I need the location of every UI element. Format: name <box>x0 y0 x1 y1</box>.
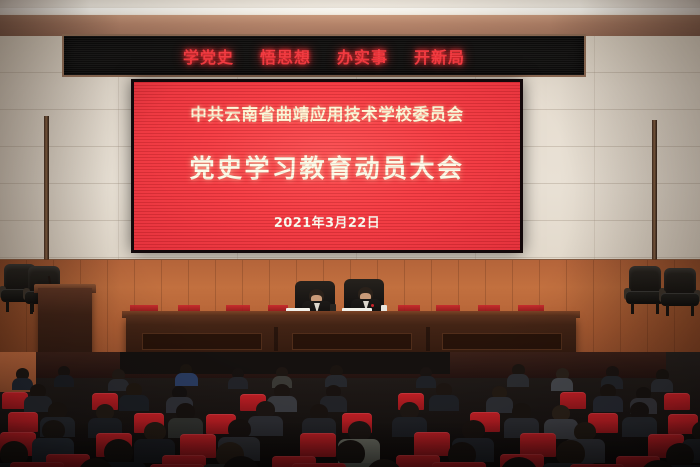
main-led-screen: 中共云南省曲靖应用技术学校委员会 党史学习教育动员大会 2021年3月22日 <box>131 79 523 253</box>
chair-leg-left <box>631 303 634 314</box>
ceiling-shadow-right <box>580 0 700 16</box>
stage-chair-right-2 <box>660 268 700 316</box>
chair-leg-left <box>30 303 33 314</box>
chair-back <box>664 268 696 296</box>
wall-trim-column-left <box>44 116 49 266</box>
chair-back <box>629 266 661 294</box>
audience-seat <box>8 412 38 432</box>
led-slogan-word-2: 悟思想 <box>260 44 311 68</box>
led-slogan-word-1: 学党史 <box>183 44 234 68</box>
audience-seat <box>300 433 336 457</box>
chair-leg-right <box>691 305 694 316</box>
conference-hall-scene: 学党史 悟思想 办实事 开新局 中共云南省曲靖应用技术学校委员会 党史学习教育动… <box>0 0 700 467</box>
audience-seat <box>432 462 486 467</box>
screen-organization-line: 中共云南省曲靖应用技术学校委员会 <box>190 101 464 125</box>
screen-date-line: 2021年3月22日 <box>274 212 380 231</box>
head-table-panel-3 <box>442 333 562 350</box>
chair-leg-right <box>656 303 659 314</box>
chair-leg-left <box>6 301 9 312</box>
led-slogan-word-4: 开新局 <box>414 44 465 68</box>
chair-leg-left <box>666 305 669 316</box>
head-table-panel-1 <box>142 333 262 350</box>
audience-seat <box>664 393 690 410</box>
screen-main-title: 党史学习教育动员大会 <box>189 149 464 185</box>
wall-trim-column-right <box>652 120 657 260</box>
screen-text-block: 中共云南省曲靖应用技术学校委员会 党史学习教育动员大会 2021年3月22日 <box>134 82 520 250</box>
audience-seating-area <box>0 352 700 467</box>
head-table-panel-2 <box>292 333 412 350</box>
speaker-party-badge <box>371 304 374 307</box>
led-slogan-banner: 学党史 悟思想 办实事 开新局 <box>62 34 586 77</box>
led-slogan-word-3: 办实事 <box>337 44 388 68</box>
ceiling-shadow-left <box>0 0 90 16</box>
audience-seat <box>292 463 346 467</box>
head-table <box>126 316 576 356</box>
audience-seat <box>10 462 64 467</box>
audience-seat <box>414 432 450 456</box>
